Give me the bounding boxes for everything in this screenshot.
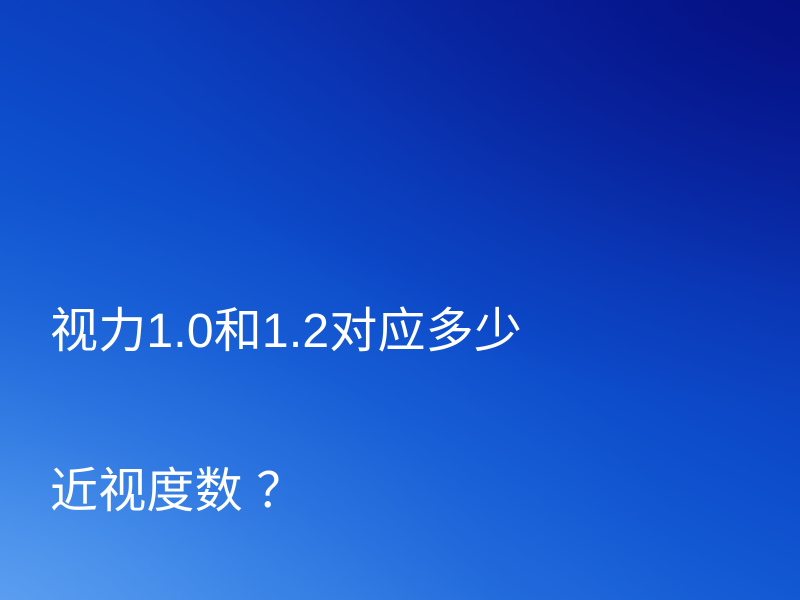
headline-line-1: 视力1.0和1.2对应多少 [50,292,762,372]
slide-canvas: 视力1.0和1.2对应多少 近视度数 ？ [0,0,800,600]
headline-line-2: 近视度数 ？ [50,452,762,532]
headline-text: 视力1.0和1.2对应多少 近视度数 ？ [50,212,762,600]
